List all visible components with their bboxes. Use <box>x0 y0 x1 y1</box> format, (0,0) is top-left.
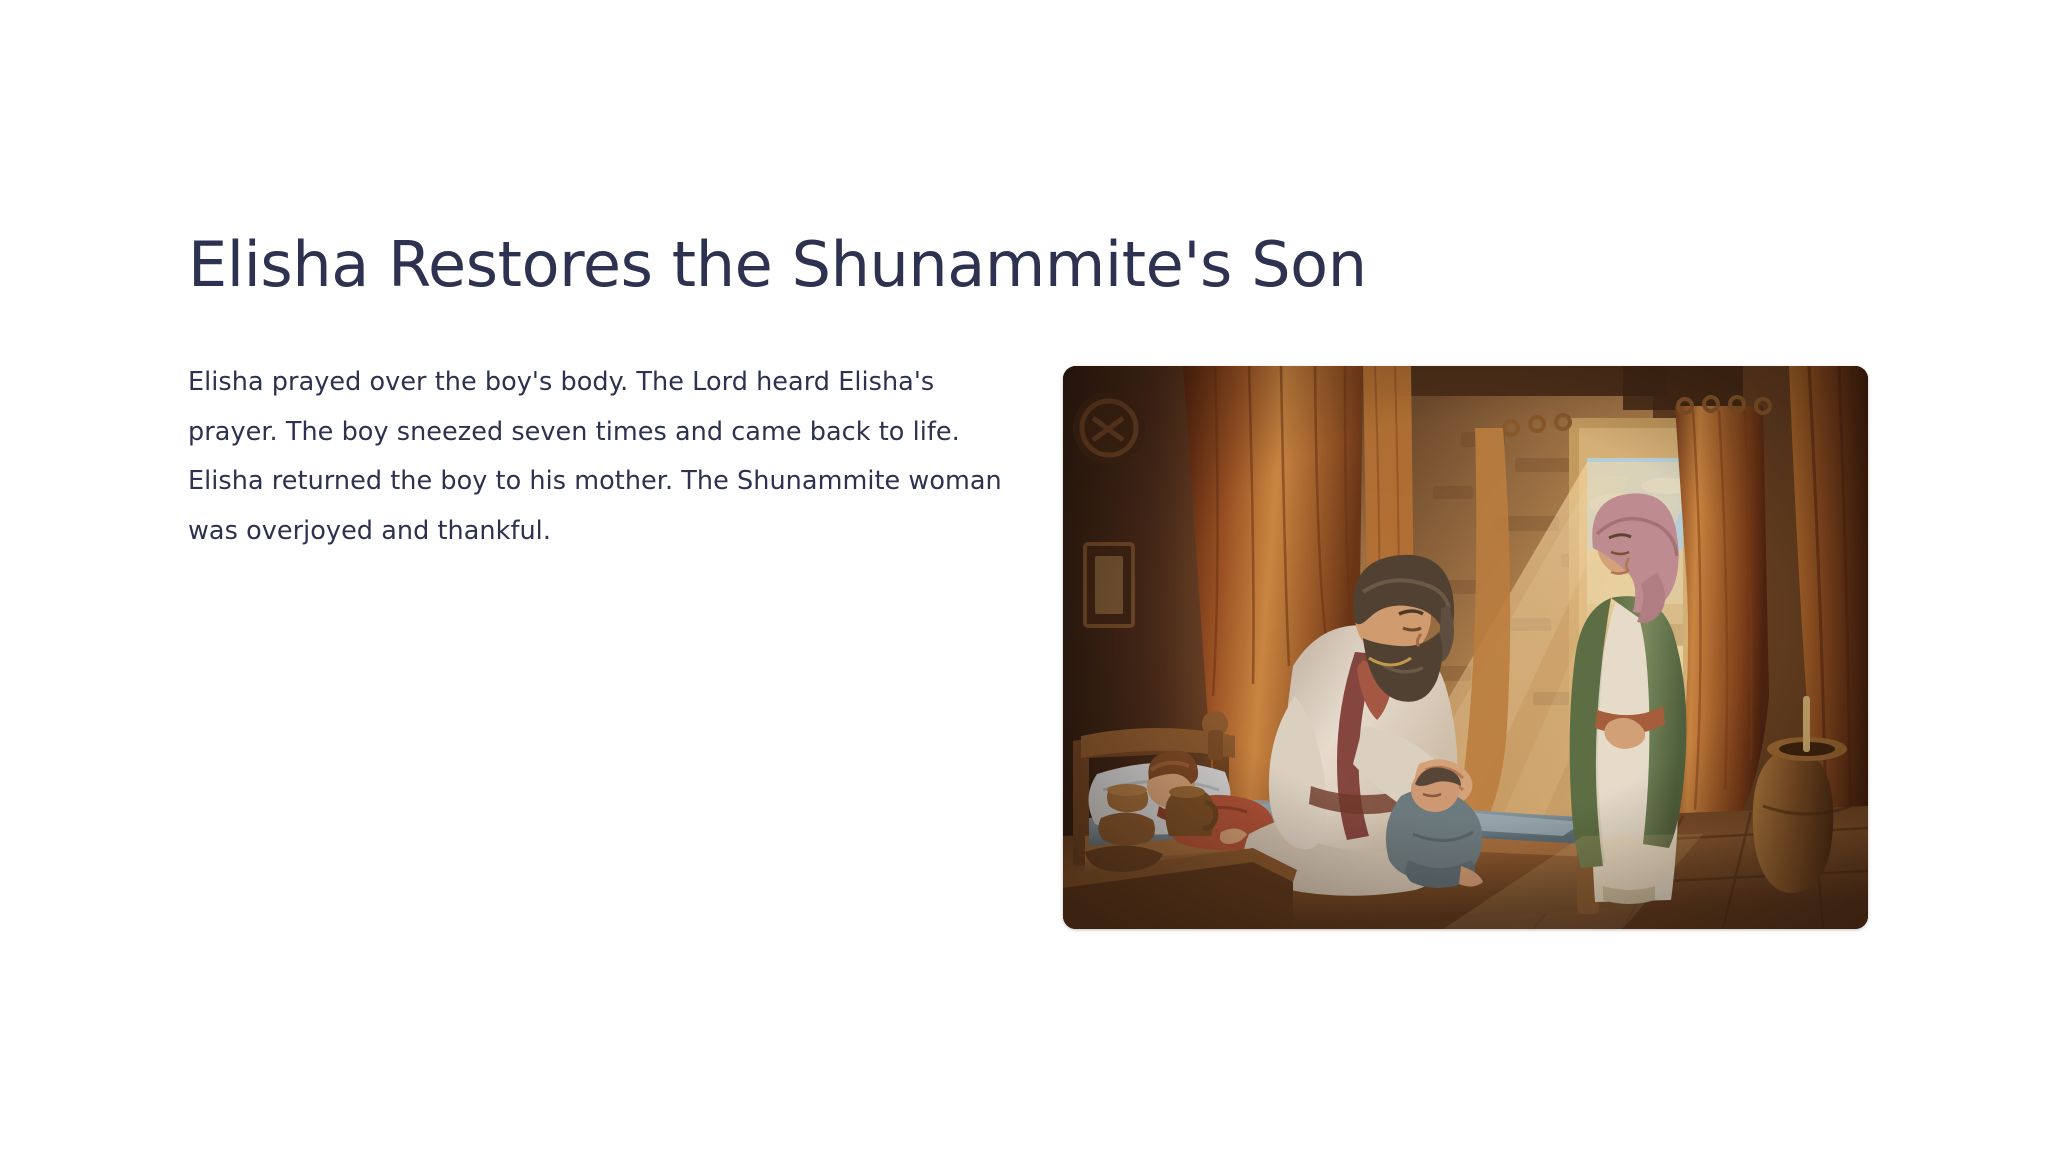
warm-tone-overlay <box>1063 366 1868 929</box>
elisha-praying-over-boy-illustration <box>1063 366 1868 929</box>
body-text-column: Elisha prayed over the boy's body. The L… <box>188 358 1018 556</box>
page-title: Elisha Restores the Shunammite's Son <box>188 228 1367 301</box>
slide-canvas: Elisha Restores the Shunammite's Son Eli… <box>0 0 2048 1152</box>
body-paragraph: Elisha prayed over the boy's body. The L… <box>188 358 1018 556</box>
illustration-svg <box>1063 366 1868 929</box>
